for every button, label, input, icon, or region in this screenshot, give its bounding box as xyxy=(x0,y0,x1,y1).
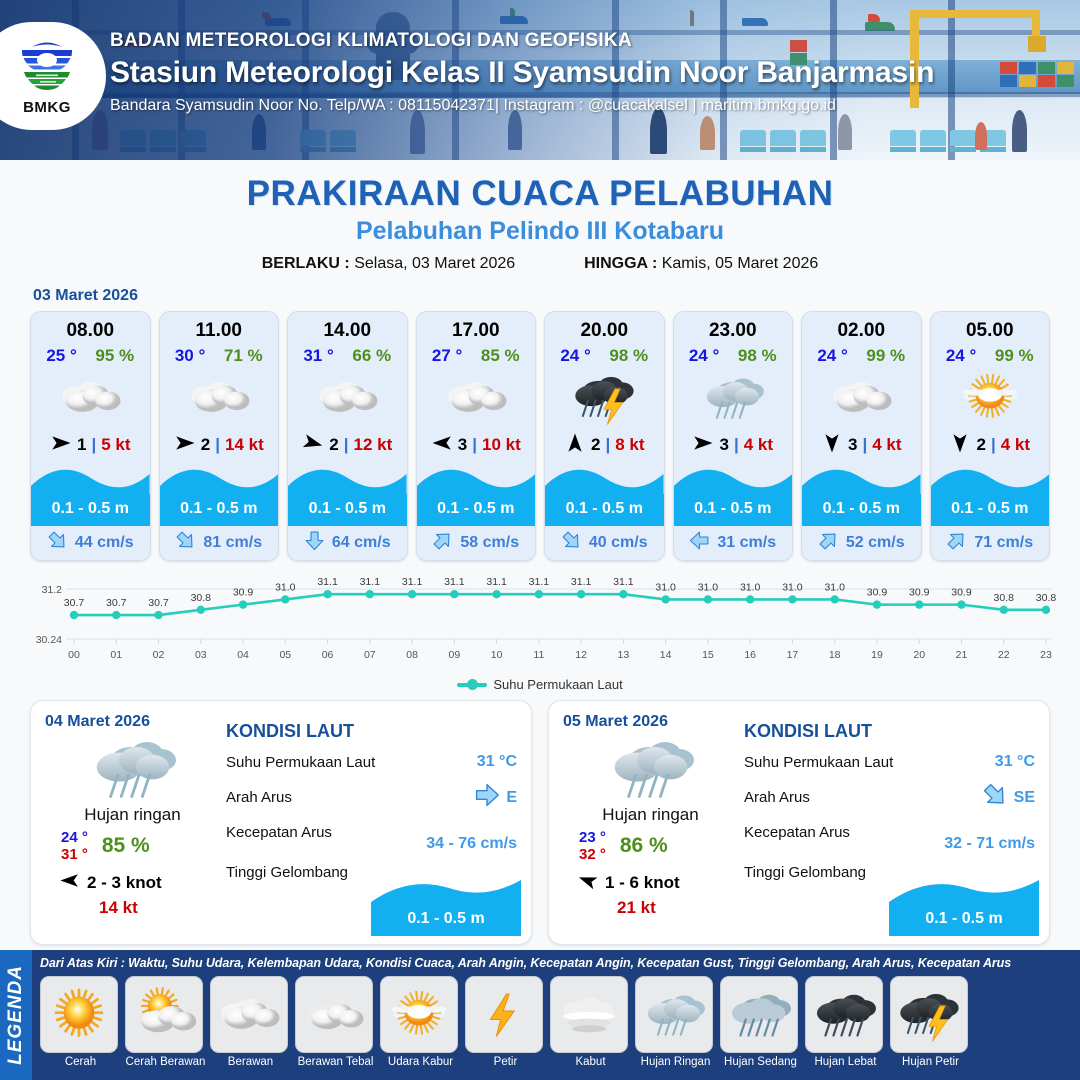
legend-item: Berawan Tebal xyxy=(295,976,376,1068)
svg-text:31.1: 31.1 xyxy=(402,576,423,588)
legend-icon xyxy=(890,976,968,1053)
svg-text:31.1: 31.1 xyxy=(486,576,507,588)
wind-speed: 4 kt xyxy=(1001,435,1030,455)
svg-text:30.8: 30.8 xyxy=(191,592,212,604)
wind-speed: 14 kt xyxy=(225,435,264,455)
svg-text:31.0: 31.0 xyxy=(275,581,296,593)
svg-text:01: 01 xyxy=(110,649,122,661)
card-temp-humidity: 31 ° 66 % xyxy=(288,342,407,366)
wind-separator: | xyxy=(991,435,996,455)
wind-speed: 4 kt xyxy=(872,435,901,455)
current-speed: 71 cm/s xyxy=(974,534,1033,552)
card-temperature: 30 ° xyxy=(175,346,205,366)
svg-text:15: 15 xyxy=(702,649,714,661)
wind-direction-icon xyxy=(50,432,72,459)
wind-direction-icon xyxy=(302,432,324,459)
card-time: 20.00 xyxy=(545,312,664,342)
svg-text:31.2: 31.2 xyxy=(42,584,63,596)
hourly-card: 20.00 24 ° 98 % 2 | 8 kt 0.1 - 0.5 m xyxy=(544,311,665,561)
legend-icon xyxy=(635,976,713,1053)
card-humidity: 71 % xyxy=(224,346,263,366)
valid-until-label: HINGGA : xyxy=(584,255,657,272)
legend-label: Petir xyxy=(465,1056,546,1068)
card-wind: 2 | 12 kt xyxy=(288,426,407,464)
hourly-card: 08.00 25 ° 95 % 1 | 5 kt 0.1 - 0.5 m 44 … xyxy=(30,311,151,561)
card-time: 17.00 xyxy=(417,312,536,342)
svg-text:09: 09 xyxy=(449,649,461,661)
wave-band: 0.1 - 0.5 m xyxy=(931,464,1050,526)
daily-wave-value: 0.1 - 0.5 m xyxy=(371,910,521,928)
card-current: 31 cm/s xyxy=(674,526,793,560)
card-humidity: 85 % xyxy=(481,346,520,366)
legend-tab-label: LEGENDA xyxy=(5,965,27,1065)
legend-label: Kabut xyxy=(550,1056,631,1068)
legend-item: Hujan Lebat xyxy=(805,976,886,1068)
current-speed: 40 cm/s xyxy=(589,534,648,552)
sst-row: Suhu Permukaan Laut 31 °C xyxy=(744,753,1035,771)
svg-text:11: 11 xyxy=(533,649,544,661)
current-speed: 44 cm/s xyxy=(75,534,134,552)
card-temperature: 24 ° xyxy=(560,346,590,366)
daily-temp-min: 23 ° xyxy=(579,829,606,846)
daily-wind-direction-icon xyxy=(577,870,598,896)
svg-text:31.0: 31.0 xyxy=(740,581,761,593)
card-humidity: 66 % xyxy=(352,346,391,366)
wave-band: 0.1 - 0.5 m xyxy=(288,464,407,526)
card-time: 14.00 xyxy=(288,312,407,342)
daily-temp-max: 32 ° xyxy=(579,846,606,863)
svg-text:04: 04 xyxy=(237,649,249,661)
svg-text:31.1: 31.1 xyxy=(571,576,592,588)
legend-icon xyxy=(380,976,458,1053)
wind-direction-value: 3 xyxy=(719,435,728,455)
legend-label: Hujan Sedang xyxy=(720,1056,801,1068)
wind-direction-icon xyxy=(821,432,843,459)
chart-legend-marker xyxy=(457,683,487,687)
wave-height: 0.1 - 0.5 m xyxy=(160,500,279,518)
current-direction-row: Arah Arus E xyxy=(226,782,517,813)
legend-icon xyxy=(805,976,883,1053)
weather-icon xyxy=(160,368,279,426)
daily-wind-direction-icon xyxy=(59,870,80,896)
daily-gust: 21 kt xyxy=(563,898,738,918)
chart-legend: Suhu Permukaan Laut xyxy=(0,677,1080,692)
wind-separator: | xyxy=(91,435,96,455)
current-direction-icon xyxy=(304,530,325,556)
card-humidity: 99 % xyxy=(995,346,1034,366)
legend-tab: LEGENDA xyxy=(0,950,32,1080)
wave-band: 0.1 - 0.5 m xyxy=(545,464,664,526)
current-direction-icon xyxy=(818,530,839,556)
wave-height: 0.1 - 0.5 m xyxy=(31,500,150,518)
card-temperature: 24 ° xyxy=(689,346,719,366)
svg-text:30.9: 30.9 xyxy=(909,587,930,599)
legend-label: Hujan Petir xyxy=(890,1056,971,1068)
legend-body: Dari Atas Kiri : Waktu, Suhu Udara, Kele… xyxy=(32,950,1080,1080)
legend-item: Hujan Ringan xyxy=(635,976,716,1068)
wave-height: 0.1 - 0.5 m xyxy=(931,500,1050,518)
contact-line: Bandara Syamsudin Noor No. Telp/WA : 081… xyxy=(110,97,934,115)
current-direction-value: SE xyxy=(1014,789,1035,807)
svg-text:17: 17 xyxy=(787,649,799,661)
current-direction-icon xyxy=(561,530,582,556)
svg-text:00: 00 xyxy=(68,649,80,661)
svg-text:13: 13 xyxy=(618,649,630,661)
wind-separator: | xyxy=(472,435,477,455)
daily-sea-conditions: KONDISI LAUT Suhu Permukaan Laut 31 °C A… xyxy=(220,713,517,934)
card-wind: 3 | 10 kt xyxy=(417,426,536,464)
svg-text:30.9: 30.9 xyxy=(233,587,254,599)
legend-icon xyxy=(550,976,628,1053)
card-humidity: 95 % xyxy=(95,346,134,366)
daily-gust: 14 kt xyxy=(45,898,220,918)
daily-condition: Hujan ringan xyxy=(45,805,220,825)
daily-weather-icon xyxy=(563,733,738,803)
wave-height: 0.1 - 0.5 m xyxy=(674,500,793,518)
card-temperature: 27 ° xyxy=(432,346,462,366)
daily-temp-min: 24 ° xyxy=(61,829,88,846)
current-direction-value: E xyxy=(506,789,517,807)
hourly-card: 02.00 24 ° 99 % 3 | 4 kt 0.1 - 0.5 m 52 … xyxy=(801,311,922,561)
svg-text:30.7: 30.7 xyxy=(64,597,85,609)
current-speed-value: 34 - 76 cm/s xyxy=(426,835,517,852)
sea-conditions-title: KONDISI LAUT xyxy=(226,721,517,742)
svg-text:06: 06 xyxy=(322,649,334,661)
wave-band: 0.1 - 0.5 m xyxy=(417,464,536,526)
bmkg-logo-icon xyxy=(16,36,78,98)
svg-text:19: 19 xyxy=(871,649,883,661)
svg-text:30.9: 30.9 xyxy=(867,587,888,599)
current-direction-icon xyxy=(689,530,710,556)
current-speed: 58 cm/s xyxy=(460,534,519,552)
legend-label: Berawan xyxy=(210,1056,291,1068)
svg-text:05: 05 xyxy=(279,649,291,661)
weather-icon xyxy=(288,368,407,426)
card-current: 64 cm/s xyxy=(288,526,407,560)
wind-separator: | xyxy=(862,435,867,455)
legend-icon xyxy=(210,976,288,1053)
svg-text:14: 14 xyxy=(660,649,672,661)
hourly-card: 23.00 24 ° 98 % 3 | 4 kt 0.1 - 0.5 m xyxy=(673,311,794,561)
current-direction-icon xyxy=(946,530,967,556)
sea-conditions-title: KONDISI LAUT xyxy=(744,721,1035,742)
current-direction-icon xyxy=(175,530,196,556)
wind-direction-icon xyxy=(692,432,714,459)
current-speed: 52 cm/s xyxy=(846,534,905,552)
banner-text-block: BADAN METEOROLOGI KLIMATOLOGI DAN GEOFIS… xyxy=(110,30,934,115)
daily-wind-range: 1 - 6 knot xyxy=(605,873,680,893)
svg-text:31.0: 31.0 xyxy=(824,581,845,593)
station-name: Stasiun Meteorologi Kelas II Syamsudin N… xyxy=(110,56,934,90)
card-humidity: 98 % xyxy=(609,346,648,366)
legend-icon xyxy=(720,976,798,1053)
weather-icon xyxy=(417,368,536,426)
card-current: 52 cm/s xyxy=(802,526,921,560)
daily-wave-graphic: 0.1 - 0.5 m xyxy=(371,878,521,936)
legend-item: Cerah Berawan xyxy=(125,976,206,1068)
svg-text:12: 12 xyxy=(575,649,587,661)
header-banner: BMKG BADAN METEOROLOGI KLIMATOLOGI DAN G… xyxy=(0,0,1080,160)
card-wind: 2 | 14 kt xyxy=(160,426,279,464)
card-humidity: 99 % xyxy=(866,346,905,366)
current-speed-value: 32 - 71 cm/s xyxy=(944,835,1035,852)
daily-temp-max: 31 ° xyxy=(61,846,88,863)
legend-footer: LEGENDA Dari Atas Kiri : Waktu, Suhu Uda… xyxy=(0,950,1080,1080)
legend-icon xyxy=(465,976,543,1053)
wind-separator: | xyxy=(605,435,610,455)
weather-icon xyxy=(931,368,1050,426)
current-speed-label: Kecepatan Arus xyxy=(744,824,850,841)
legend-item: Hujan Sedang xyxy=(720,976,801,1068)
current-direction-row: Arah Arus SE xyxy=(744,782,1035,813)
svg-text:23: 23 xyxy=(1040,649,1052,661)
daily-forecast-panels: 04 Maret 2026 Hujan ringan 24 ° 31 ° 85 … xyxy=(0,692,1080,945)
current-direction-label: Arah Arus xyxy=(226,789,292,806)
wave-height-label: Tinggi Gelombang xyxy=(226,864,348,881)
current-speed: 64 cm/s xyxy=(332,534,391,552)
sst-chart: 31.230.240001020304050607080910111213141… xyxy=(22,573,1058,673)
legend-icon xyxy=(40,976,118,1053)
daily-humidity: 86 % xyxy=(620,834,668,858)
wind-direction-icon xyxy=(174,432,196,459)
svg-text:10: 10 xyxy=(491,649,503,661)
wave-band: 0.1 - 0.5 m xyxy=(160,464,279,526)
wave-height: 0.1 - 0.5 m xyxy=(802,500,921,518)
daily-date: 05 Maret 2026 xyxy=(563,713,738,731)
chart-legend-label: Suhu Permukaan Laut xyxy=(493,677,622,692)
card-temperature: 24 ° xyxy=(946,346,976,366)
legend-icon xyxy=(295,976,373,1053)
legend-item: Udara Kabur xyxy=(380,976,461,1068)
card-current: 81 cm/s xyxy=(160,526,279,560)
wind-direction-value: 3 xyxy=(458,435,467,455)
valid-from-value: Selasa, 03 Maret 2026 xyxy=(354,255,515,272)
wind-speed: 5 kt xyxy=(101,435,130,455)
svg-text:20: 20 xyxy=(913,649,925,661)
validity-row: BERLAKU : Selasa, 03 Maret 2026 HINGGA :… xyxy=(0,255,1080,273)
svg-text:21: 21 xyxy=(956,649,968,661)
card-temp-humidity: 24 ° 99 % xyxy=(802,342,921,366)
daily-wave-graphic: 0.1 - 0.5 m xyxy=(889,878,1039,936)
card-temp-humidity: 27 ° 85 % xyxy=(417,342,536,366)
legend-label: Hujan Lebat xyxy=(805,1056,886,1068)
card-temperature: 25 ° xyxy=(46,346,76,366)
current-speed-label: Kecepatan Arus xyxy=(226,824,332,841)
card-wind: 1 | 5 kt xyxy=(31,426,150,464)
svg-text:30.24: 30.24 xyxy=(36,634,62,646)
hourly-card: 11.00 30 ° 71 % 2 | 14 kt 0.1 - 0.5 m 81 xyxy=(159,311,280,561)
wind-direction-icon xyxy=(564,432,586,459)
page-subtitle: Pelabuhan Pelindo III Kotabaru xyxy=(0,217,1080,246)
sst-value: 31 °C xyxy=(477,753,517,771)
hourly-card: 17.00 27 ° 85 % 3 | 10 kt 0.1 - 0.5 m 58 xyxy=(416,311,537,561)
card-current: 58 cm/s xyxy=(417,526,536,560)
svg-text:31.0: 31.0 xyxy=(698,581,719,593)
card-temp-humidity: 30 ° 71 % xyxy=(160,342,279,366)
card-time: 08.00 xyxy=(31,312,150,342)
wind-separator: | xyxy=(344,435,349,455)
card-temp-humidity: 24 ° 99 % xyxy=(931,342,1050,366)
svg-text:16: 16 xyxy=(744,649,756,661)
legend-item: Cerah xyxy=(40,976,121,1068)
bmkg-logo: BMKG xyxy=(0,22,106,130)
daily-temps: 24 ° 31 ° 85 % xyxy=(45,829,220,864)
wind-separator: | xyxy=(215,435,220,455)
wave-band: 0.1 - 0.5 m xyxy=(802,464,921,526)
hourly-card: 05.00 24 ° 99 % 2 | 4 kt 0.1 - 0.5 xyxy=(930,311,1051,561)
wind-direction-icon xyxy=(431,432,453,459)
svg-text:31.1: 31.1 xyxy=(360,576,381,588)
svg-text:31.0: 31.0 xyxy=(655,581,676,593)
card-temp-humidity: 24 ° 98 % xyxy=(545,342,664,366)
legend-label: Cerah xyxy=(40,1056,121,1068)
wind-direction-icon xyxy=(949,432,971,459)
card-current: 40 cm/s xyxy=(545,526,664,560)
daily-panel: 05 Maret 2026 Hujan ringan 23 ° 32 ° 86 … xyxy=(548,700,1050,945)
forecast-date-label: 03 Maret 2026 xyxy=(33,287,1080,305)
legend-item: Hujan Petir xyxy=(890,976,971,1068)
legend-icon xyxy=(125,976,203,1053)
legend-label: Udara Kabur xyxy=(380,1056,461,1068)
weather-icon xyxy=(674,368,793,426)
sst-row: Suhu Permukaan Laut 31 °C xyxy=(226,753,517,771)
wind-direction-value: 2 xyxy=(976,435,985,455)
wave-height-label: Tinggi Gelombang xyxy=(744,864,866,881)
card-temp-humidity: 24 ° 98 % xyxy=(674,342,793,366)
card-temp-humidity: 25 ° 95 % xyxy=(31,342,150,366)
daily-temps: 23 ° 32 ° 86 % xyxy=(563,829,738,864)
legend-note: Dari Atas Kiri : Waktu, Suhu Udara, Kele… xyxy=(40,956,1074,970)
bmkg-logo-label: BMKG xyxy=(23,99,71,116)
legend-item: Kabut xyxy=(550,976,631,1068)
legend-label: Hujan Ringan xyxy=(635,1056,716,1068)
svg-text:31.1: 31.1 xyxy=(529,576,550,588)
svg-text:22: 22 xyxy=(998,649,1010,661)
wave-band: 0.1 - 0.5 m xyxy=(31,464,150,526)
card-time: 02.00 xyxy=(802,312,921,342)
legend-items: Cerah Cerah Berawan Berawan Berawan Teba… xyxy=(40,976,1074,1068)
wind-speed: 10 kt xyxy=(482,435,521,455)
daily-wind-range: 2 - 3 knot xyxy=(87,873,162,893)
wind-direction-value: 1 xyxy=(77,435,86,455)
card-wind: 3 | 4 kt xyxy=(802,426,921,464)
current-direction-label: Arah Arus xyxy=(744,789,810,806)
wind-speed: 12 kt xyxy=(353,435,392,455)
card-time: 23.00 xyxy=(674,312,793,342)
legend-label: Cerah Berawan xyxy=(125,1056,206,1068)
daily-panel: 04 Maret 2026 Hujan ringan 24 ° 31 ° 85 … xyxy=(30,700,532,945)
svg-text:30.8: 30.8 xyxy=(994,592,1015,604)
wind-direction-value: 2 xyxy=(201,435,210,455)
sst-label: Suhu Permukaan Laut xyxy=(744,754,893,771)
weather-icon xyxy=(545,368,664,426)
page-title: PRAKIRAAN CUACA PELABUHAN xyxy=(0,174,1080,214)
current-direction-icon xyxy=(47,530,68,556)
svg-text:31.0: 31.0 xyxy=(782,581,803,593)
current-speed: 81 cm/s xyxy=(203,534,262,552)
weather-icon xyxy=(31,368,150,426)
svg-text:03: 03 xyxy=(195,649,207,661)
agency-name: BADAN METEOROLOGI KLIMATOLOGI DAN GEOFIS… xyxy=(110,30,934,52)
wave-band: 0.1 - 0.5 m xyxy=(674,464,793,526)
current-direction-icon xyxy=(432,530,453,556)
card-wind: 3 | 4 kt xyxy=(674,426,793,464)
svg-text:08: 08 xyxy=(406,649,418,661)
svg-text:02: 02 xyxy=(153,649,165,661)
current-speed: 31 cm/s xyxy=(717,534,776,552)
svg-text:31.1: 31.1 xyxy=(444,576,465,588)
sst-value: 31 °C xyxy=(995,753,1035,771)
card-temperature: 31 ° xyxy=(303,346,333,366)
title-block: PRAKIRAAN CUACA PELABUHAN Pelabuhan Peli… xyxy=(0,160,1080,273)
weather-icon xyxy=(802,368,921,426)
valid-from-label: BERLAKU : xyxy=(262,255,350,272)
legend-item: Petir xyxy=(465,976,546,1068)
daily-left: 04 Maret 2026 Hujan ringan 24 ° 31 ° 85 … xyxy=(45,713,220,934)
daily-wind: 2 - 3 knot xyxy=(45,870,220,896)
svg-text:30.7: 30.7 xyxy=(106,597,127,609)
card-wind: 2 | 8 kt xyxy=(545,426,664,464)
valid-until-value: Kamis, 05 Maret 2026 xyxy=(662,255,819,272)
daily-left: 05 Maret 2026 Hujan ringan 23 ° 32 ° 86 … xyxy=(563,713,738,934)
current-direction-icon xyxy=(982,782,1008,813)
sst-label: Suhu Permukaan Laut xyxy=(226,754,375,771)
wind-separator: | xyxy=(734,435,739,455)
card-humidity: 98 % xyxy=(738,346,777,366)
daily-weather-icon xyxy=(45,733,220,803)
wind-speed: 4 kt xyxy=(744,435,773,455)
svg-text:07: 07 xyxy=(364,649,376,661)
daily-condition: Hujan ringan xyxy=(563,805,738,825)
hourly-card: 14.00 31 ° 66 % 2 | 12 kt 0.1 - 0.5 m 64 xyxy=(287,311,408,561)
wind-direction-value: 3 xyxy=(848,435,857,455)
daily-sea-conditions: KONDISI LAUT Suhu Permukaan Laut 31 °C A… xyxy=(738,713,1035,934)
wave-height: 0.1 - 0.5 m xyxy=(288,500,407,518)
hourly-forecast-cards: 08.00 25 ° 95 % 1 | 5 kt 0.1 - 0.5 m 44 … xyxy=(0,311,1080,561)
legend-item: Berawan xyxy=(210,976,291,1068)
card-time: 11.00 xyxy=(160,312,279,342)
card-temperature: 24 ° xyxy=(817,346,847,366)
legend-label: Berawan Tebal xyxy=(295,1056,376,1068)
svg-text:18: 18 xyxy=(829,649,841,661)
wave-height: 0.1 - 0.5 m xyxy=(545,500,664,518)
svg-text:30.7: 30.7 xyxy=(148,597,169,609)
card-current: 71 cm/s xyxy=(931,526,1050,560)
daily-wind: 1 - 6 knot xyxy=(563,870,738,896)
svg-text:31.1: 31.1 xyxy=(317,576,338,588)
wave-height: 0.1 - 0.5 m xyxy=(417,500,536,518)
daily-wave-value: 0.1 - 0.5 m xyxy=(889,910,1039,928)
card-time: 05.00 xyxy=(931,312,1050,342)
wind-direction-value: 2 xyxy=(329,435,338,455)
daily-humidity: 85 % xyxy=(102,834,150,858)
card-current: 44 cm/s xyxy=(31,526,150,560)
wind-speed: 8 kt xyxy=(615,435,644,455)
card-wind: 2 | 4 kt xyxy=(931,426,1050,464)
svg-text:30.9: 30.9 xyxy=(951,587,972,599)
svg-text:30.8: 30.8 xyxy=(1036,592,1057,604)
daily-date: 04 Maret 2026 xyxy=(45,713,220,731)
svg-text:31.1: 31.1 xyxy=(613,576,634,588)
current-direction-icon xyxy=(474,782,500,813)
wind-direction-value: 2 xyxy=(591,435,600,455)
